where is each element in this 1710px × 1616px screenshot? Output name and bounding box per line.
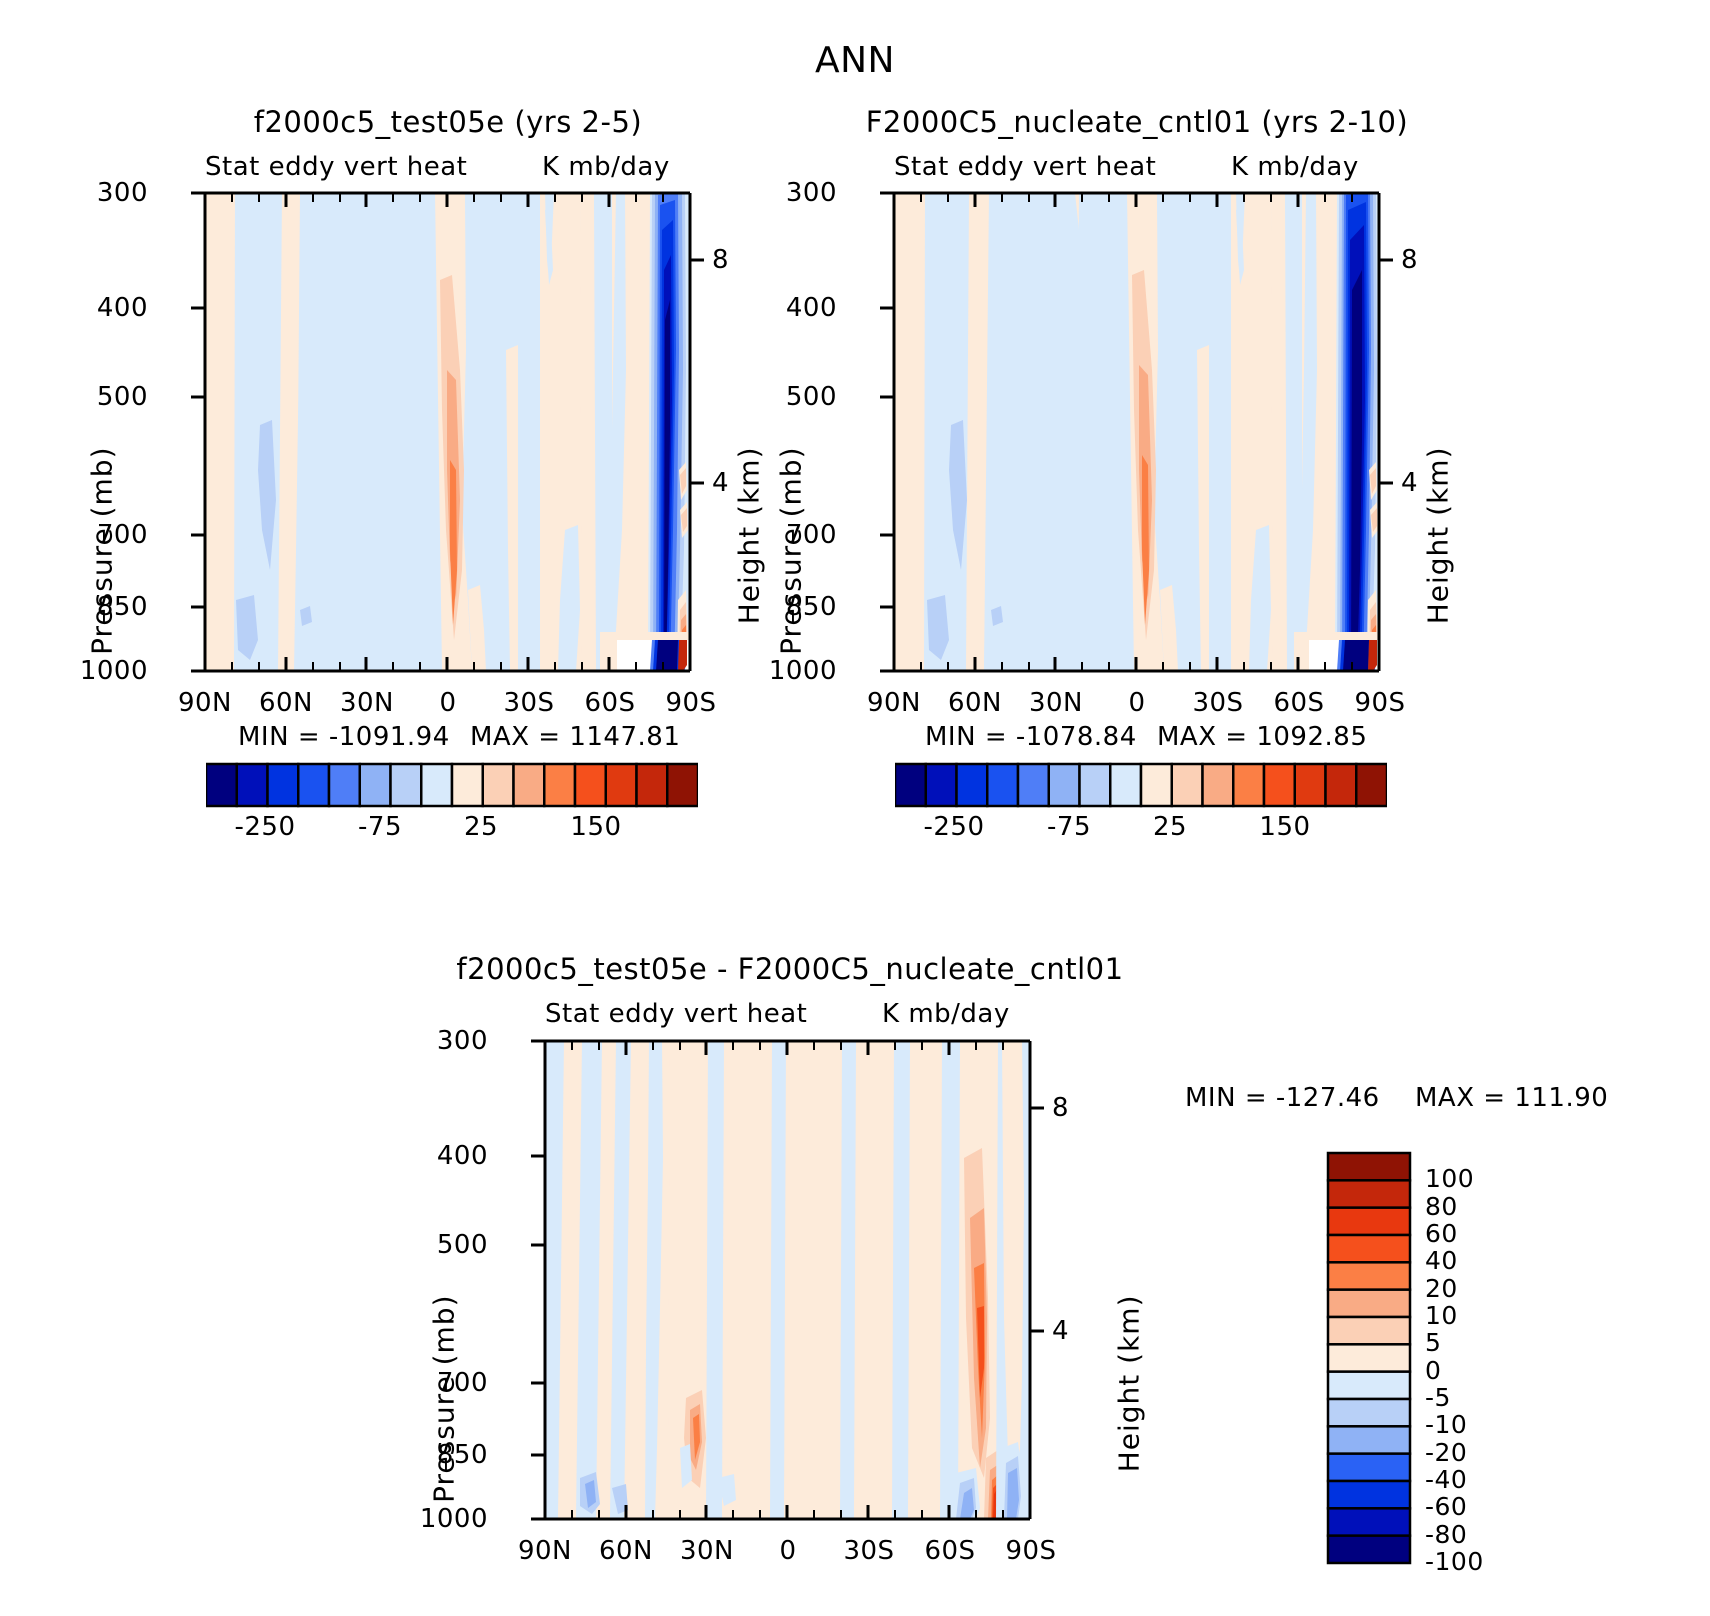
colorbar-cell bbox=[1326, 764, 1357, 806]
colorbar-cell bbox=[483, 764, 514, 806]
colorbar-cell bbox=[1328, 1153, 1410, 1180]
yr-tick-8-diff: 8 bbox=[1052, 1093, 1069, 1123]
colorbar-cell bbox=[1328, 1262, 1410, 1289]
colorbar-vertical-diff[interactable] bbox=[1326, 1150, 1416, 1570]
colorbar-cell bbox=[237, 764, 268, 806]
colorbar-cell bbox=[895, 764, 926, 806]
colorbar-cell bbox=[575, 764, 606, 806]
min-label-diff: MIN = -127.46 bbox=[1185, 1083, 1380, 1113]
x-tick-30s-cntl: 30S bbox=[1192, 688, 1243, 718]
colorbar-cell bbox=[1328, 1290, 1410, 1317]
cbar-tick-4-cntl: 150 bbox=[1259, 812, 1310, 842]
colorbar-vertical-tick-label: 60 bbox=[1425, 1219, 1458, 1248]
x-tick-90s-diff: 90S bbox=[1005, 1536, 1056, 1566]
x-tick-90n-diff: 90N bbox=[518, 1536, 572, 1566]
cbar-tick-3-test: 25 bbox=[464, 812, 498, 842]
y-tick-400-test: 400 bbox=[97, 293, 148, 323]
colorbar-cell bbox=[1080, 764, 1111, 806]
y-tick-400-diff: 400 bbox=[437, 1141, 488, 1171]
cbar-tick-4-test: 150 bbox=[570, 812, 621, 842]
panel-ylabel-right-diff: Height (km) bbox=[1112, 1295, 1145, 1473]
cbar-tick-1-test: -250 bbox=[234, 812, 295, 842]
colorbar-cell bbox=[1203, 764, 1234, 806]
x-tick-30n-cntl: 30N bbox=[1029, 688, 1083, 718]
colorbar-cell bbox=[206, 764, 237, 806]
colorbar-cell bbox=[329, 764, 360, 806]
y-tick-400-cntl: 400 bbox=[786, 293, 837, 323]
panel-ylabel-test: Pressure (mb) bbox=[86, 447, 119, 655]
panel-title-cntl: F2000C5_nucleate_cntl01 (yrs 2-10) bbox=[866, 105, 1409, 139]
colorbar-cell bbox=[1328, 1508, 1410, 1535]
colorbar-cell bbox=[1172, 764, 1203, 806]
y-tick-700-test: 700 bbox=[97, 520, 148, 550]
colorbar-vertical-tick-label: -60 bbox=[1425, 1492, 1467, 1521]
colorbar-cell bbox=[1264, 764, 1295, 806]
colorbar-cell bbox=[360, 764, 391, 806]
colorbar-cell bbox=[544, 764, 575, 806]
y-tick-500-diff: 500 bbox=[437, 1230, 488, 1260]
contour-field-test bbox=[205, 193, 690, 671]
panel-title-diff: f2000c5_test05e - F2000C5_nucleate_cntl0… bbox=[456, 952, 1123, 986]
panel-ylabel-right-cntl: Height (km) bbox=[1421, 447, 1454, 625]
yr-tick-4-test: 4 bbox=[712, 468, 729, 498]
y-tick-700-diff: 700 bbox=[437, 1368, 488, 1398]
colorbar-vertical-tick-label: -10 bbox=[1425, 1410, 1467, 1439]
colorbar-cell bbox=[987, 764, 1018, 806]
contour-plot-diff bbox=[490, 1018, 1050, 1578]
panel-title-test: f2000c5_test05e (yrs 2-5) bbox=[254, 105, 642, 139]
colorbar-cell bbox=[421, 764, 452, 806]
colorbar-cell bbox=[1233, 764, 1264, 806]
colorbar-vertical-tick-label: 0 bbox=[1425, 1356, 1441, 1385]
min-label-cntl: MIN = -1078.84 bbox=[925, 722, 1137, 752]
colorbar-cell bbox=[1328, 1454, 1410, 1481]
cbar-tick-1-cntl: -250 bbox=[923, 812, 984, 842]
colorbar-cell bbox=[1110, 764, 1141, 806]
colorbar-cell bbox=[1328, 1180, 1410, 1207]
cbar-tick-2-test: -75 bbox=[358, 812, 402, 842]
x-tick-0-diff: 0 bbox=[779, 1536, 796, 1566]
x-tick-90n-test: 90N bbox=[178, 688, 232, 718]
yr-tick-8-cntl: 8 bbox=[1401, 245, 1418, 275]
figure-root: ANN f2000c5_test05e (yrs 2-5) Stat eddy … bbox=[0, 0, 1710, 1616]
colorbar-vertical-tick-label: -80 bbox=[1425, 1520, 1467, 1549]
y-tick-700-cntl: 700 bbox=[786, 520, 837, 550]
colorbar-cell bbox=[1328, 1372, 1410, 1399]
x-tick-0-test: 0 bbox=[439, 688, 456, 718]
colorbar-cell bbox=[298, 764, 329, 806]
colorbar-vertical-tick-label: 40 bbox=[1425, 1246, 1458, 1275]
x-tick-90s-cntl: 90S bbox=[1354, 688, 1405, 718]
y-tick-500-cntl: 500 bbox=[786, 382, 837, 412]
colorbar-cell bbox=[1328, 1235, 1410, 1262]
colorbar-cell bbox=[391, 764, 422, 806]
y-tick-1000-cntl: 1000 bbox=[769, 656, 837, 686]
y-tick-300-test: 300 bbox=[97, 178, 148, 208]
y-tick-300-diff: 300 bbox=[437, 1026, 488, 1056]
y-tick-850-cntl: 850 bbox=[786, 592, 837, 622]
max-label-diff: MAX = 111.90 bbox=[1415, 1083, 1608, 1113]
x-tick-30n-diff: 30N bbox=[680, 1536, 734, 1566]
figure-title: ANN bbox=[815, 40, 895, 81]
colorbar-cell bbox=[637, 764, 668, 806]
colorbar-horizontal-test[interactable] bbox=[206, 762, 698, 810]
colorbar-cell bbox=[957, 764, 988, 806]
x-tick-60s-diff: 60S bbox=[924, 1536, 975, 1566]
y-tick-500-test: 500 bbox=[97, 382, 148, 412]
contour-plot-test bbox=[150, 170, 710, 730]
colorbar-vertical-tick-label: -20 bbox=[1425, 1438, 1467, 1467]
x-tick-0-cntl: 0 bbox=[1128, 688, 1145, 718]
contour-field-cntl bbox=[894, 193, 1379, 671]
colorbar-vertical-tick-label: -40 bbox=[1425, 1465, 1467, 1494]
min-label-test: MIN = -1091.94 bbox=[238, 722, 450, 752]
x-tick-60n-cntl: 60N bbox=[948, 688, 1002, 718]
y-tick-1000-diff: 1000 bbox=[420, 1504, 488, 1534]
yr-tick-4-diff: 4 bbox=[1052, 1316, 1069, 1346]
max-label-cntl: MAX = 1092.85 bbox=[1157, 722, 1367, 752]
colorbar-vertical-tick-label: -5 bbox=[1425, 1383, 1451, 1412]
x-tick-60n-diff: 60N bbox=[599, 1536, 653, 1566]
colorbar-cell bbox=[514, 764, 545, 806]
x-tick-30n-test: 30N bbox=[340, 688, 394, 718]
panel-ylabel-diff: Pressure (mb) bbox=[428, 1295, 461, 1503]
x-tick-30s-test: 30S bbox=[503, 688, 554, 718]
colorbar-cell bbox=[1049, 764, 1080, 806]
colorbar-cell bbox=[1328, 1426, 1410, 1453]
cbar-tick-3-cntl: 25 bbox=[1153, 812, 1187, 842]
colorbar-vertical-tick-label: 5 bbox=[1425, 1328, 1441, 1357]
panel-ylabel-cntl: Pressure (mb) bbox=[775, 447, 808, 655]
colorbar-vertical-tick-label: 100 bbox=[1425, 1164, 1474, 1193]
colorbar-vertical-tick-label: 80 bbox=[1425, 1192, 1458, 1221]
colorbar-cell bbox=[926, 764, 957, 806]
colorbar-cell bbox=[1328, 1481, 1410, 1508]
y-tick-1000-test: 1000 bbox=[80, 656, 148, 686]
colorbar-cell bbox=[606, 764, 637, 806]
colorbar-horizontal-cntl[interactable] bbox=[895, 762, 1387, 810]
colorbar-cell bbox=[1356, 764, 1387, 806]
yr-tick-4-cntl: 4 bbox=[1401, 468, 1418, 498]
contour-field-diff bbox=[545, 1041, 1030, 1519]
colorbar-cell bbox=[1328, 1344, 1410, 1371]
x-tick-60s-test: 60S bbox=[584, 688, 635, 718]
x-tick-90n-cntl: 90N bbox=[867, 688, 921, 718]
contour-plot-cntl bbox=[839, 170, 1399, 730]
x-tick-60s-cntl: 60S bbox=[1273, 688, 1324, 718]
colorbar-vertical-tick-label: -100 bbox=[1425, 1547, 1484, 1576]
y-tick-300-cntl: 300 bbox=[786, 178, 837, 208]
x-tick-30s-diff: 30S bbox=[843, 1536, 894, 1566]
x-tick-60n-test: 60N bbox=[259, 688, 313, 718]
max-label-test: MAX = 1147.81 bbox=[470, 722, 680, 752]
colorbar-cell bbox=[1018, 764, 1049, 806]
colorbar-cell bbox=[268, 764, 299, 806]
colorbar-vertical-tick-label: 20 bbox=[1425, 1274, 1458, 1303]
panel-ylabel-right-test: Height (km) bbox=[732, 447, 765, 625]
colorbar-cell bbox=[1328, 1399, 1410, 1426]
colorbar-cell bbox=[452, 764, 483, 806]
colorbar-cell bbox=[667, 764, 698, 806]
yr-tick-8-test: 8 bbox=[712, 245, 729, 275]
colorbar-vertical-tick-label: 10 bbox=[1425, 1301, 1458, 1330]
colorbar-cell bbox=[1328, 1317, 1410, 1344]
y-tick-850-test: 850 bbox=[97, 592, 148, 622]
y-tick-850-diff: 850 bbox=[437, 1440, 488, 1470]
x-tick-90s-test: 90S bbox=[665, 688, 716, 718]
colorbar-cell bbox=[1295, 764, 1326, 806]
colorbar-cell bbox=[1141, 764, 1172, 806]
colorbar-cell bbox=[1328, 1208, 1410, 1235]
cbar-tick-2-cntl: -75 bbox=[1047, 812, 1091, 842]
colorbar-cell bbox=[1328, 1536, 1410, 1563]
